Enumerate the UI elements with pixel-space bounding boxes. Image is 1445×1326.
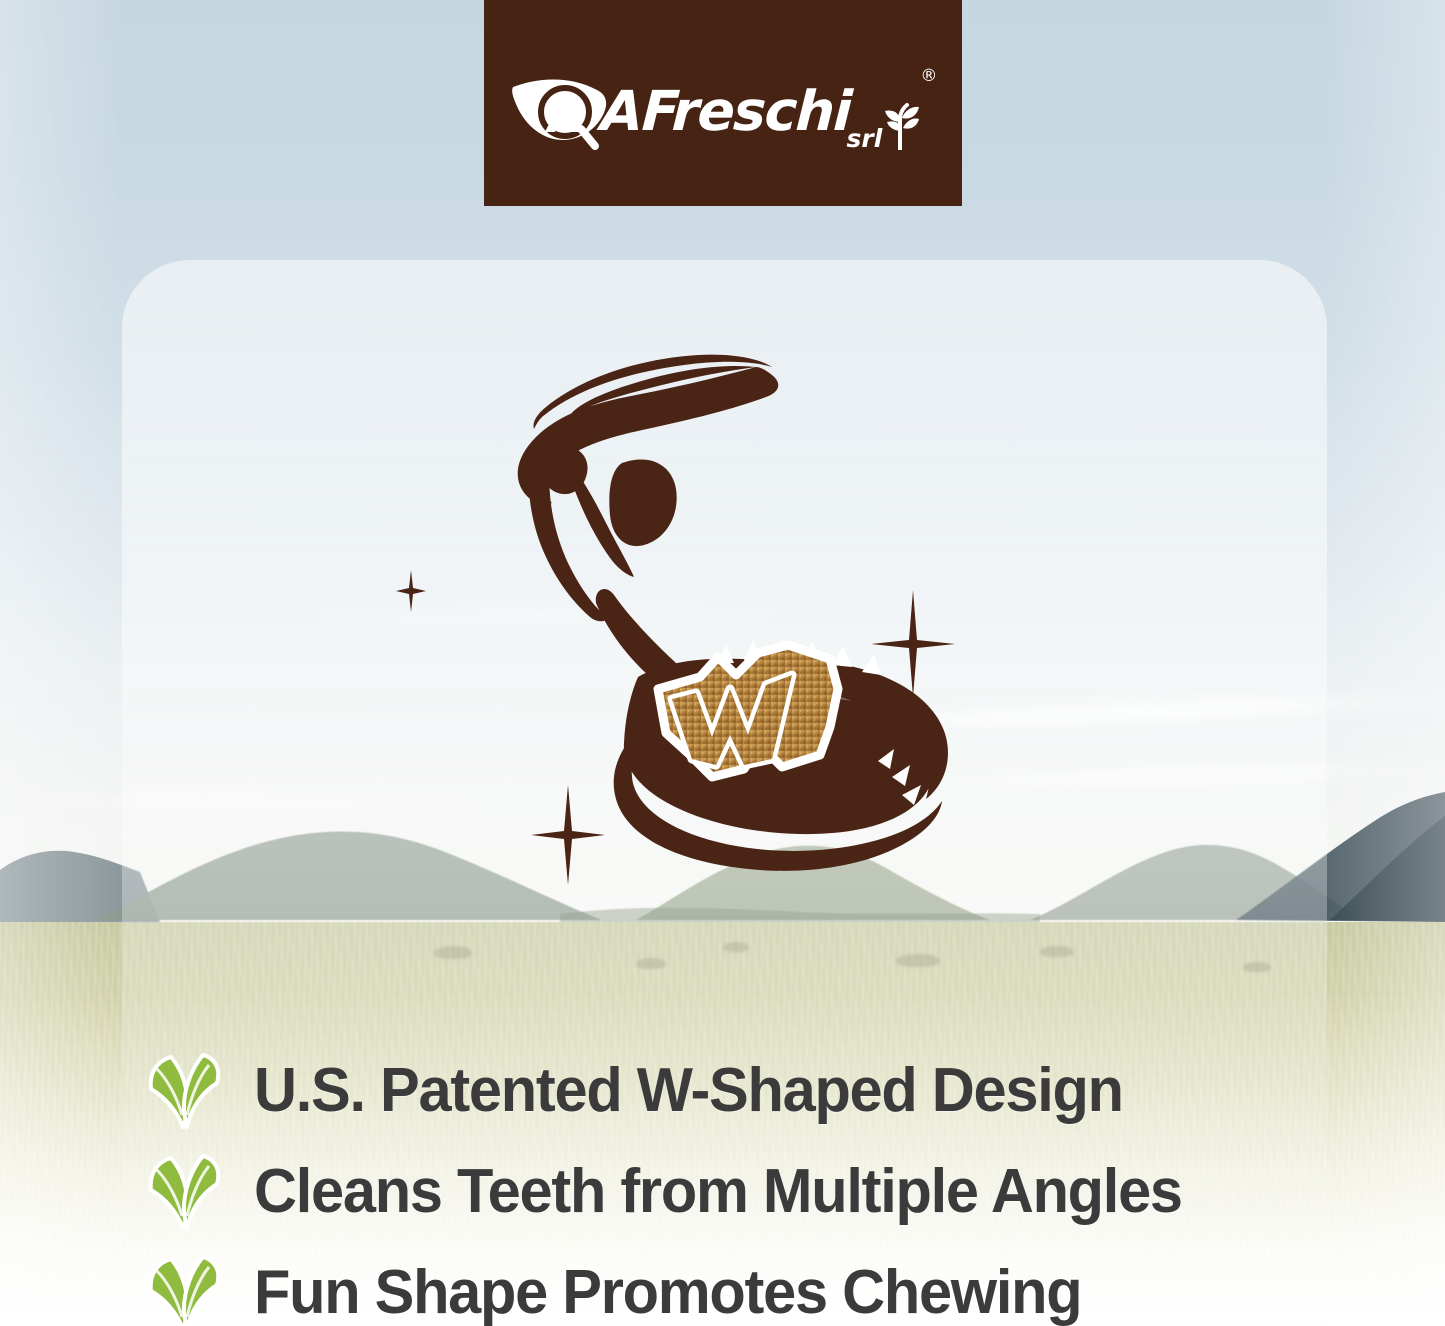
brand-logo-bar: AFreschi srl ® <box>484 0 962 206</box>
list-item: Cleans Teeth from Multiple Angles <box>140 1141 1340 1242</box>
feature-list: U.S. Patented W-Shaped Design Cleans Tee… <box>140 1040 1340 1326</box>
brand-suffix: srl <box>847 126 883 151</box>
feature-label: U.S. Patented W-Shaped Design <box>254 1059 1123 1122</box>
leaf-bullet-icon <box>140 1255 232 1326</box>
registered-trademark-icon: ® <box>920 66 937 86</box>
leaf-bullet-icon <box>140 1154 232 1230</box>
list-item: U.S. Patented W-Shaped Design <box>140 1040 1340 1141</box>
feature-label: Fun Shape Promotes Chewing <box>254 1261 1081 1324</box>
brand-logo-lockup: AFreschi srl ® <box>509 68 938 155</box>
brand-name: AFreschi <box>599 84 852 139</box>
feature-label: Cleans Teeth from Multiple Angles <box>254 1160 1182 1223</box>
leaf-bullet-icon <box>140 1053 232 1129</box>
dog-head-chewing-w-treat-illustration <box>400 345 1000 945</box>
list-item: Fun Shape Promotes Chewing <box>140 1242 1340 1326</box>
product-infographic: AFreschi srl ® <box>0 0 1445 1326</box>
sprout-icon <box>883 98 919 155</box>
